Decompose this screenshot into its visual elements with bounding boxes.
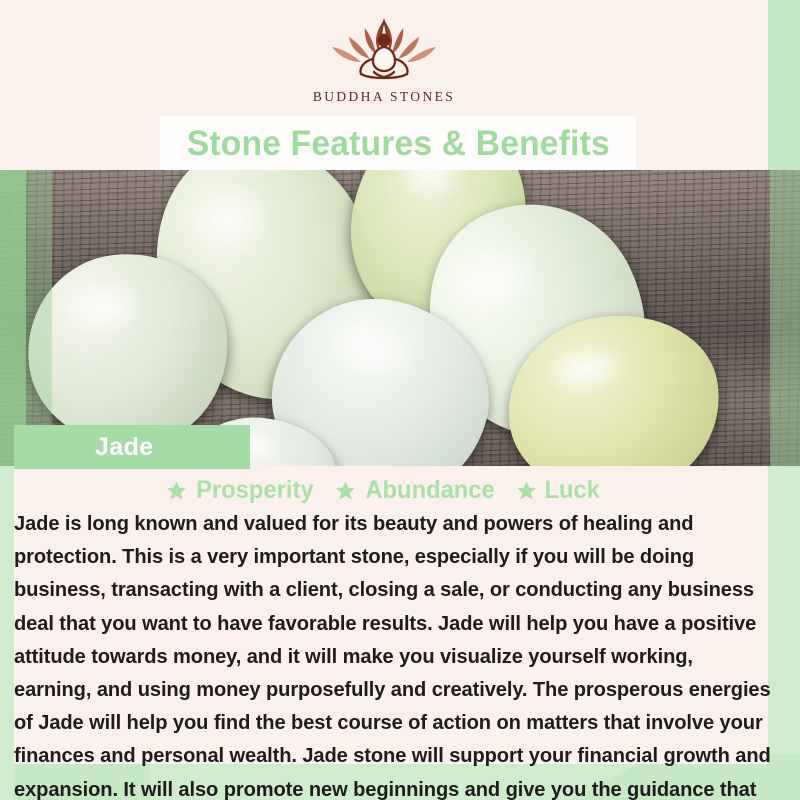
benefit-item: Abundance [335,478,498,503]
stone-photo [0,170,800,466]
poster: BUDDHA STONES Stone Features & Benefits … [0,0,800,800]
stone-description: Jade is long known and valued for its be… [14,508,774,800]
benefit-item: Prosperity [166,478,317,503]
benefits-row: Prosperity Abundance Luck [0,478,768,503]
photo-overlay-right [770,170,800,466]
benefit-label: Prosperity [197,478,314,503]
brand-wordmark: BUDDHA STONES [313,89,455,105]
brand-header: BUDDHA STONES [0,0,768,118]
title-banner: Stone Features & Benefits [160,116,636,170]
benefit-item: Luck [516,478,601,503]
stone-name-bar: Jade [14,425,250,469]
photo-overlay-left [0,170,26,466]
star-icon [516,480,537,501]
star-icon [166,480,187,501]
stone-name: Jade [95,435,154,460]
benefit-label: Abundance [365,478,494,503]
decor-left-strip [0,460,14,800]
benefit-label: Luck [545,478,600,503]
lotus-meditation-icon [318,14,450,86]
page-title: Stone Features & Benefits [186,126,609,161]
star-icon [335,480,356,501]
